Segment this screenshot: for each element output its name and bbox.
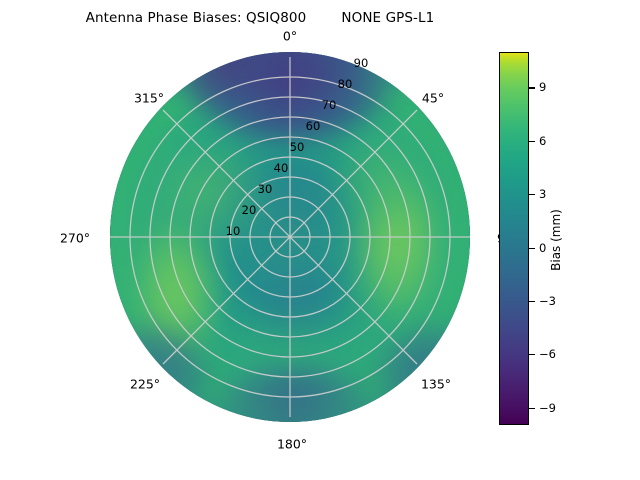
azimuth-tick-0: 0° bbox=[283, 29, 297, 44]
radial-tick-50: 50 bbox=[290, 140, 305, 154]
radial-tick-90: 90 bbox=[354, 56, 369, 70]
figure-canvas: Antenna Phase Biases: QSIQ800 NONE GPS-L… bbox=[0, 0, 640, 480]
colorbar-tick-label-neg3: −3 bbox=[539, 294, 556, 308]
colorbar-axis-label: Bias (mm) bbox=[549, 209, 563, 271]
colorbar-tick-mark bbox=[529, 408, 535, 409]
polar-axes: 90 80 70 60 50 40 30 20 10 0° 45° 90 135… bbox=[110, 52, 470, 422]
colorbar-tick-mark bbox=[529, 354, 535, 355]
azimuth-tick-225: 225° bbox=[130, 377, 160, 392]
bias-contour-field bbox=[110, 52, 470, 422]
azimuth-tick-45: 45° bbox=[422, 91, 444, 106]
colorbar-tick-label-neg6: −6 bbox=[539, 347, 556, 361]
colorbar-gradient bbox=[499, 52, 529, 425]
colorbar: 9 6 3 0 −3 −6 −9 bbox=[499, 52, 529, 425]
cool-patch-center-south bbox=[248, 257, 344, 343]
radial-tick-10: 10 bbox=[226, 224, 241, 238]
radial-tick-20: 20 bbox=[242, 203, 257, 217]
radial-tick-80: 80 bbox=[338, 77, 353, 91]
azimuth-tick-270: 270° bbox=[60, 231, 90, 246]
colorbar-tick-label-6: 6 bbox=[539, 134, 546, 148]
colorbar-tick-label-3: 3 bbox=[539, 187, 546, 201]
azimuth-tick-315: 315° bbox=[134, 91, 164, 106]
colorbar-tick-mark bbox=[529, 141, 535, 142]
colorbar-tick-label-neg9: −9 bbox=[539, 401, 556, 415]
colorbar-tick-mark bbox=[529, 248, 535, 249]
polar-plot-area bbox=[110, 52, 470, 422]
warm-band-northeast bbox=[320, 123, 430, 223]
colorbar-tick-label-9: 9 bbox=[539, 80, 546, 94]
colorbar-tick-label-0: 0 bbox=[539, 241, 546, 255]
colorbar-tick-mark bbox=[529, 194, 535, 195]
radial-tick-40: 40 bbox=[274, 161, 289, 175]
azimuth-tick-180: 180° bbox=[277, 437, 307, 452]
colorbar-tick-mark bbox=[529, 301, 535, 302]
radial-tick-30: 30 bbox=[258, 182, 273, 196]
azimuth-tick-135: 135° bbox=[421, 377, 451, 392]
colorbar-tick-mark bbox=[529, 87, 535, 88]
radial-tick-60: 60 bbox=[306, 119, 321, 133]
radial-tick-70: 70 bbox=[322, 98, 337, 112]
chart-title: Antenna Phase Biases: QSIQ800 NONE GPS-L… bbox=[0, 10, 520, 26]
